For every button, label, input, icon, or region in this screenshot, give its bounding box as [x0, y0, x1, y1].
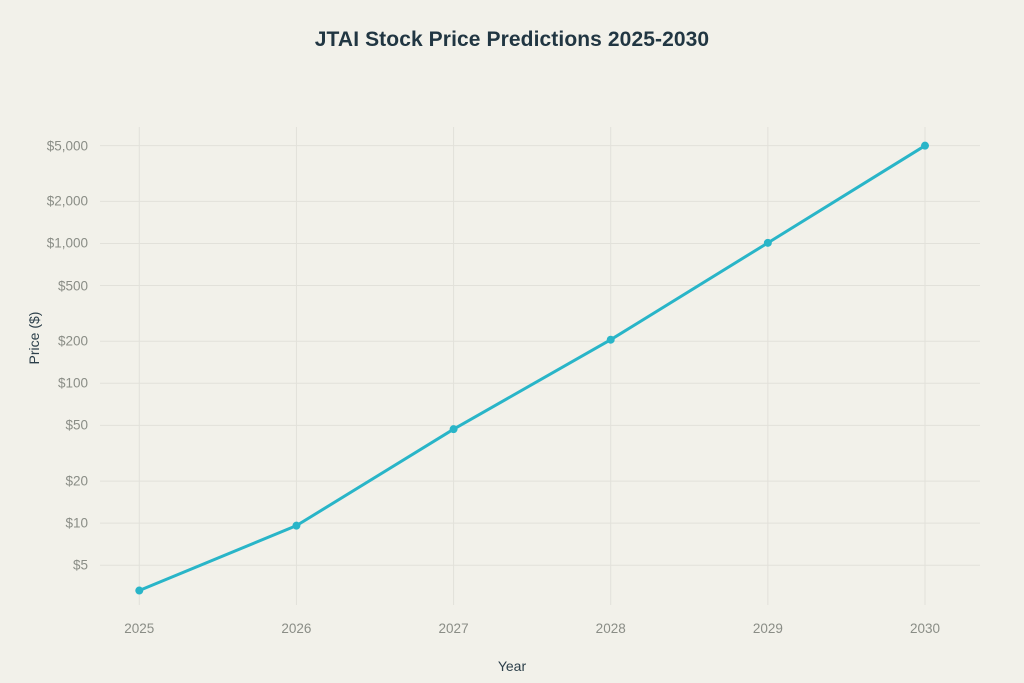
y-axis-title: Price ($): [26, 278, 42, 398]
horizontal-gridlines: [100, 146, 980, 566]
chart-plot-svg: [100, 127, 980, 605]
x-tick-label: 2025: [124, 621, 154, 636]
x-tick-label: 2026: [281, 621, 311, 636]
x-tick-label: 2029: [753, 621, 783, 636]
chart-container: JTAI Stock Price Predictions 2025-2030 $…: [0, 0, 1024, 683]
data-point-marker: [450, 425, 458, 433]
y-tick-label: $10: [65, 516, 88, 531]
y-axis-tick-labels: $5$10$20$50$100$200$500$1,000$2,000$5,00…: [0, 127, 88, 605]
data-point-marker: [135, 587, 143, 595]
plot-area: [100, 127, 980, 605]
y-tick-label: $500: [58, 278, 88, 293]
vertical-gridlines: [139, 127, 925, 605]
data-point-marker: [921, 142, 929, 150]
y-tick-label: $5,000: [47, 138, 88, 153]
data-point-marker: [764, 239, 772, 247]
x-tick-label: 2028: [596, 621, 626, 636]
x-tick-label: 2027: [439, 621, 469, 636]
x-tick-label: 2030: [910, 621, 940, 636]
chart-title: JTAI Stock Price Predictions 2025-2030: [0, 28, 1024, 52]
y-tick-label: $100: [58, 376, 88, 391]
y-tick-label: $1,000: [47, 236, 88, 251]
y-tick-label: $5: [73, 558, 88, 573]
x-axis-title: Year: [0, 658, 1024, 674]
price-line-series: [139, 146, 925, 591]
data-point-marker: [292, 522, 300, 530]
y-tick-label: $20: [65, 474, 88, 489]
data-point-markers: [135, 142, 929, 595]
y-tick-label: $50: [65, 418, 88, 433]
y-tick-label: $200: [58, 334, 88, 349]
data-point-marker: [607, 336, 615, 344]
y-tick-label: $2,000: [47, 194, 88, 209]
x-axis-tick-labels: 202520262027202820292030: [0, 621, 1024, 643]
